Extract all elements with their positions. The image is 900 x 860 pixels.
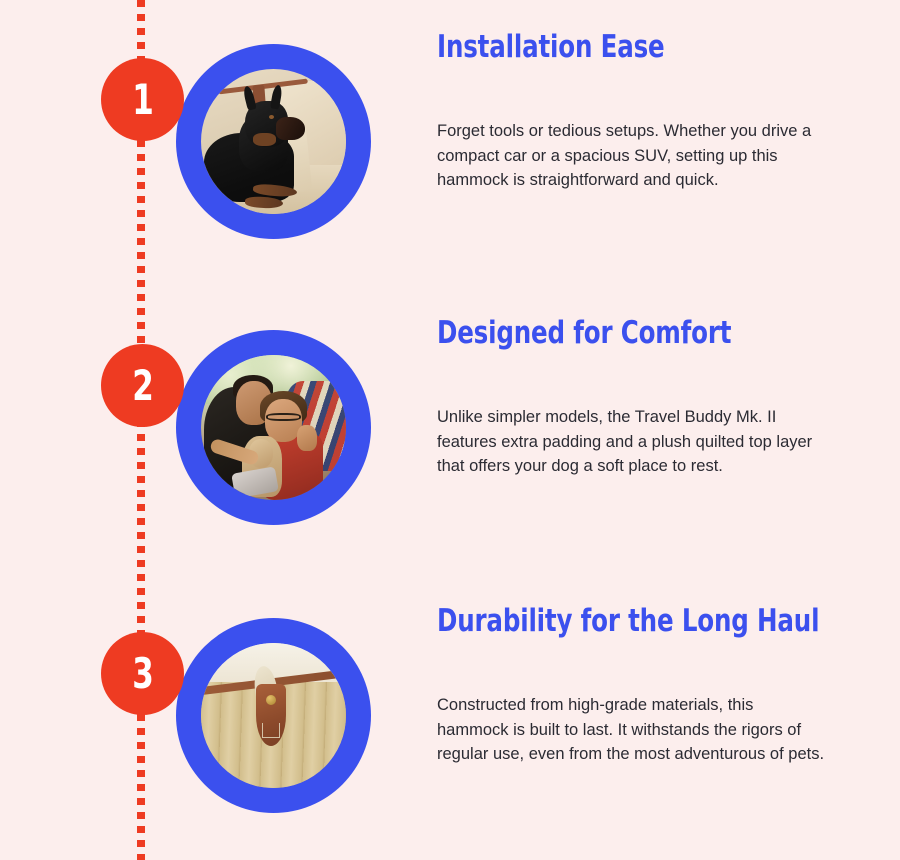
step-title: Durability for the Long Haul xyxy=(437,604,789,638)
step-photo-dog-in-car xyxy=(201,69,346,214)
step-description: Constructed from high-grade materials, t… xyxy=(437,638,829,766)
step-description: Forget tools or tedious setups. Whether … xyxy=(437,64,829,192)
features-infographic: 1 Installation Ease xyxy=(0,0,900,860)
step-number-badge-3: 3 xyxy=(101,632,184,715)
stitch-detail xyxy=(262,723,280,738)
eyeglasses xyxy=(266,413,301,421)
step-number-label: 2 xyxy=(132,365,153,407)
step-number-badge-2: 2 xyxy=(101,344,184,427)
waving-hand xyxy=(297,425,317,451)
step-text-1: Installation Ease Forget tools or tediou… xyxy=(437,30,837,192)
dog-tan-marking xyxy=(253,133,276,146)
step-photo-couple-selfie xyxy=(201,355,346,500)
step-description: Unlike simpler models, the Travel Buddy … xyxy=(437,350,829,478)
step-title: Installation Ease xyxy=(437,30,789,64)
dog-muzzle xyxy=(276,117,305,140)
step-text-3: Durability for the Long Haul Constructed… xyxy=(437,604,837,766)
step-text-2: Designed for Comfort Unlike simpler mode… xyxy=(437,316,837,478)
step-number-label: 3 xyxy=(132,653,153,695)
step-photo-ring-3 xyxy=(176,618,371,813)
step-number-badge-1: 1 xyxy=(101,58,184,141)
step-photo-fabric-detail xyxy=(201,643,346,788)
step-number-label: 1 xyxy=(132,79,153,121)
step-title: Designed for Comfort xyxy=(437,316,789,350)
step-photo-ring-2 xyxy=(176,330,371,525)
step-photo-ring-1 xyxy=(176,44,371,239)
